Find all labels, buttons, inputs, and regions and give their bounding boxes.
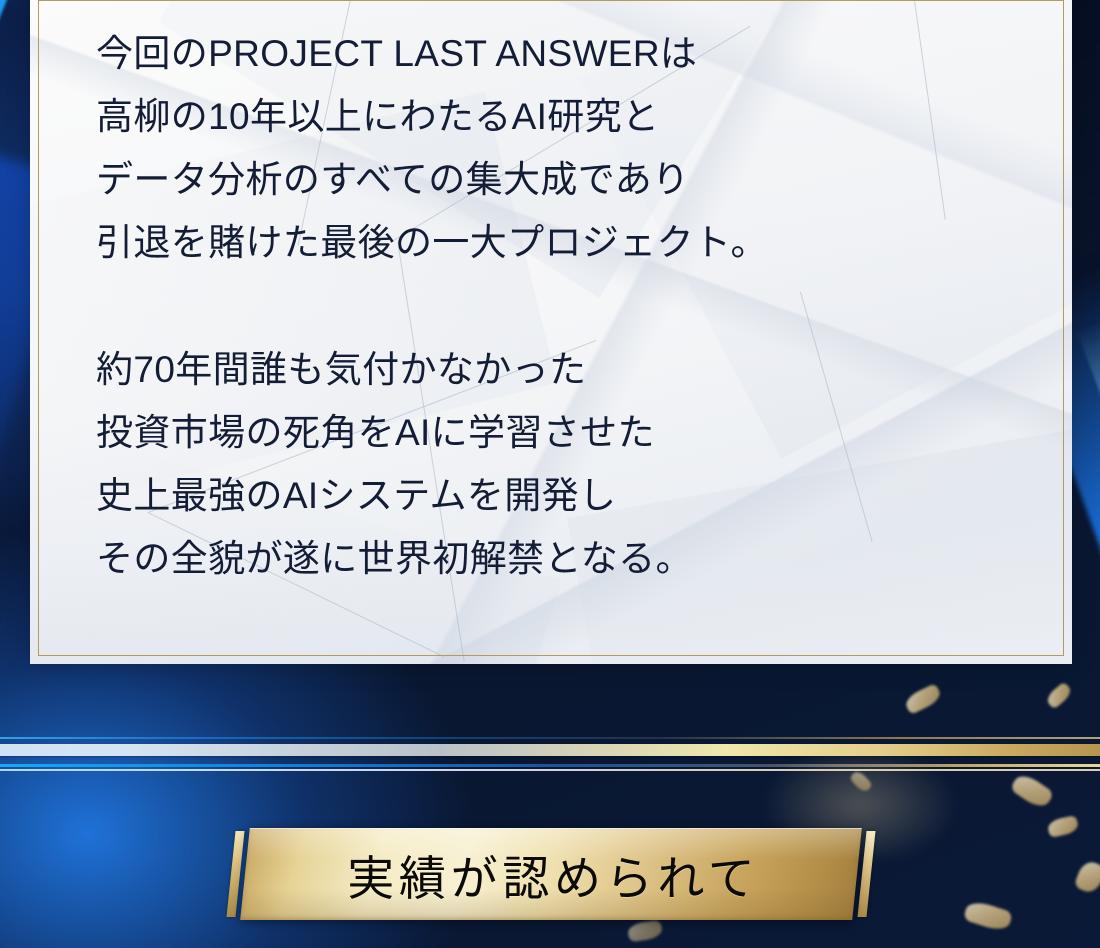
divider-line-bottom <box>0 769 1100 771</box>
paragraph-1-line-2: 高柳の10年以上にわたるAI研究と <box>96 85 996 148</box>
paragraph-1: 今回のPROJECT LAST ANSWERは 高柳の10年以上にわたるAI研究… <box>96 22 996 274</box>
banner-edge-right <box>857 831 875 917</box>
card-copy: 今回のPROJECT LAST ANSWERは 高柳の10年以上にわたるAI研究… <box>96 22 996 590</box>
divider-line-mid-2 <box>0 764 1100 767</box>
paragraph-2-line-3: 史上最強のAIシステムを開発し <box>96 464 996 527</box>
banner-label: 実績が認められて <box>245 828 857 920</box>
paragraph-2-line-1: 約70年間誰も気付かなかった <box>96 338 996 401</box>
divider-band-gold <box>0 744 1100 756</box>
page-root: 今回のPROJECT LAST ANSWERは 高柳の10年以上にわたるAI研究… <box>0 0 1100 948</box>
paragraph-2: 約70年間誰も気付かなかった 投資市場の死角をAIに学習させた 史上最強のAIシ… <box>96 338 996 590</box>
paragraph-1-line-4: 引退を賭けた最後の一大プロジェクト。 <box>96 211 996 274</box>
paragraph-1-line-3: データ分析のすべての集大成であり <box>96 148 996 211</box>
achievement-banner: 実績が認められて <box>0 828 1100 920</box>
paragraph-2-line-4: その全貌が遂に世界初解禁となる。 <box>96 527 996 590</box>
divider-line-mid-1 <box>0 760 1100 763</box>
paragraph-1-line-1: 今回のPROJECT LAST ANSWERは <box>96 22 996 85</box>
paragraph-2-line-2: 投資市場の死角をAIに学習させた <box>96 401 996 464</box>
divider-line-top <box>0 737 1100 739</box>
